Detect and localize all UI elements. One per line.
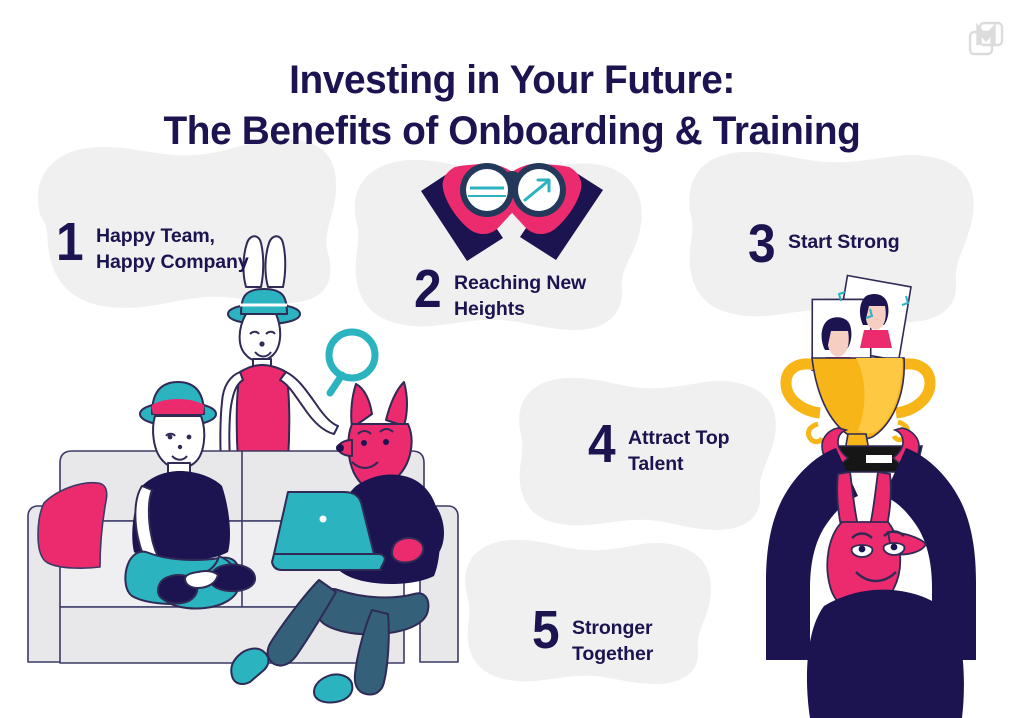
- text-layer: Investing in Your Future: The Benefits o…: [0, 0, 1024, 718]
- benefit-item-1[interactable]: 1 Happy Team, Happy Company: [56, 218, 249, 275]
- benefit-item-2[interactable]: 2 Reaching New Heights: [414, 265, 586, 322]
- benefit-item-5[interactable]: 5 Stronger Together: [532, 606, 653, 667]
- infographic-canvas: Investing in Your Future: The Benefits o…: [0, 0, 1024, 718]
- page-title-line-1: Investing in Your Future:: [289, 58, 735, 102]
- benefit-label-5: Stronger Together: [572, 606, 653, 667]
- benefit-number-3: 3: [748, 220, 774, 269]
- overlapping-squares-m-logo-icon: [966, 19, 1006, 59]
- benefit-item-3[interactable]: 3 Start Strong: [748, 220, 900, 269]
- benefit-label-1: Happy Team, Happy Company: [96, 218, 249, 275]
- benefit-number-2: 2: [414, 265, 440, 314]
- page-title: Investing in Your Future: The Benefits o…: [15, 55, 1008, 157]
- benefit-number-5: 5: [532, 606, 558, 655]
- benefit-label-3: Start Strong: [788, 220, 899, 256]
- brand-logo[interactable]: [966, 19, 1006, 59]
- benefit-item-4[interactable]: 4 Attract Top Talent: [588, 420, 730, 477]
- benefit-number-4: 4: [588, 420, 614, 469]
- benefit-label-4: Attract Top Talent: [628, 420, 729, 477]
- benefit-number-1: 1: [56, 218, 82, 267]
- benefit-label-2: Reaching New Heights: [454, 265, 586, 322]
- page-title-line-2: The Benefits of Onboarding & Training: [15, 106, 1008, 157]
